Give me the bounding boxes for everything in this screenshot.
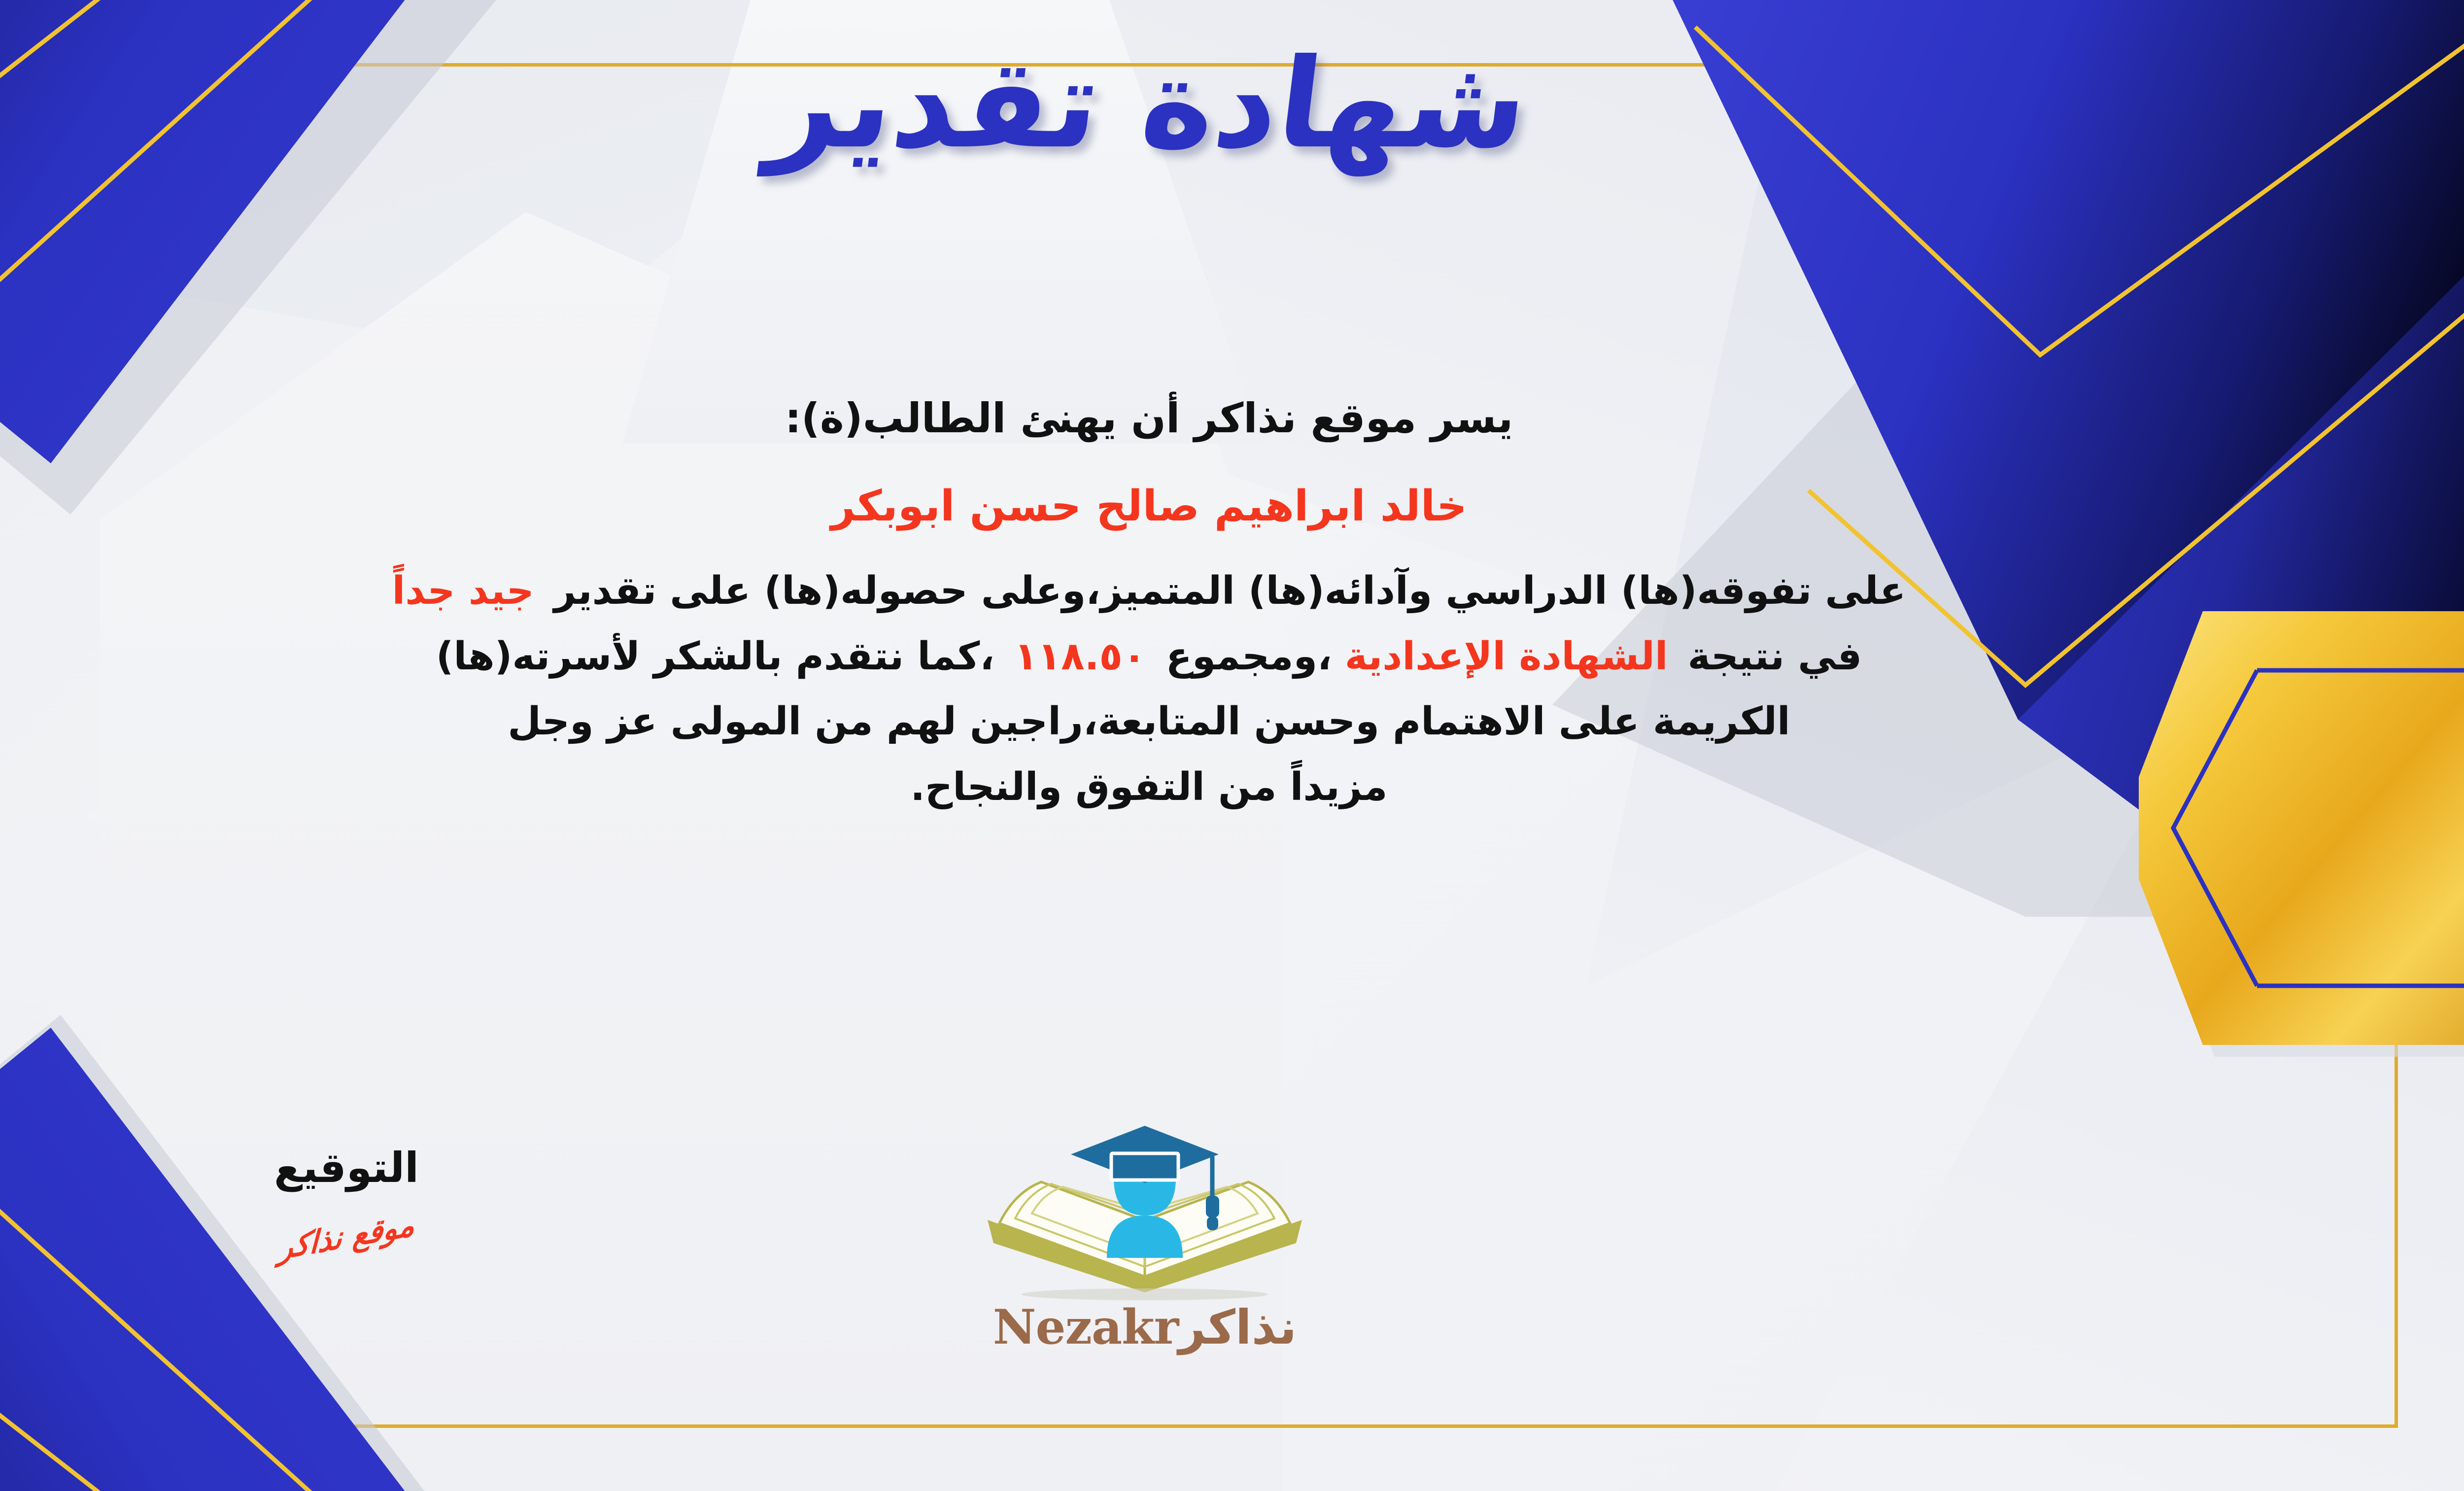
achievement-text: على تفوقه(ها) الدراسي وآدائه(ها) المتميز… [554, 569, 1906, 613]
logo-name-arabic: نذاكر [1178, 1300, 1297, 1355]
thanks-text: ،كما نتقدم بالشكر لأسرته(ها) [436, 634, 994, 679]
achievement-line-3: الكريمة على الاهتمام وحسن المتابعة،راجين… [0, 694, 2346, 749]
certificate-page: شهادة تقدير يسر موقع نذاكر أن يهنئ الطال… [0, 0, 2464, 1491]
logo-wordmark: Nezakrنذاكر [940, 1299, 1349, 1355]
certificate-title-area: شهادة تقدير [0, 27, 2464, 181]
total-score: ١١٨.٥٠ [1014, 634, 1146, 679]
intro-line: يسر موقع نذاكر أن يهنئ الطالب(ة): [0, 389, 2346, 448]
logo-name-latin: Nezakr [993, 1299, 1179, 1355]
certificate-body: يسر موقع نذاكر أن يهنئ الطالب(ة): خالد ا… [0, 389, 2346, 826]
total-label: ،ومجموع [1166, 634, 1332, 679]
exam-name: الشهادة الإعدادية [1345, 634, 1668, 679]
student-name: خالد ابراهيم صالح حسن ابوبكر [0, 476, 2346, 536]
grade-value: جيد جداً [392, 569, 534, 613]
logo-artwork [940, 1119, 1349, 1306]
achievement-line-4: مزيداً من التفوق والنجاح. [0, 760, 2346, 815]
signature-label: التوقيع [208, 1144, 484, 1192]
result-prefix-text: في نتيجة [1688, 634, 1862, 679]
achievement-line-1: على تفوقه(ها) الدراسي وآدائه(ها) المتميز… [0, 564, 2346, 619]
page-title: شهادة تقدير [761, 27, 1537, 181]
signature-block: التوقيع موقع نذاكر [208, 1144, 484, 1254]
brand-logo: Nezakrنذاكر [940, 1119, 1349, 1355]
achievement-line-2: في نتيجةالشهادة الإعدادية،ومجموع١١٨.٥٠،ك… [0, 629, 2346, 684]
